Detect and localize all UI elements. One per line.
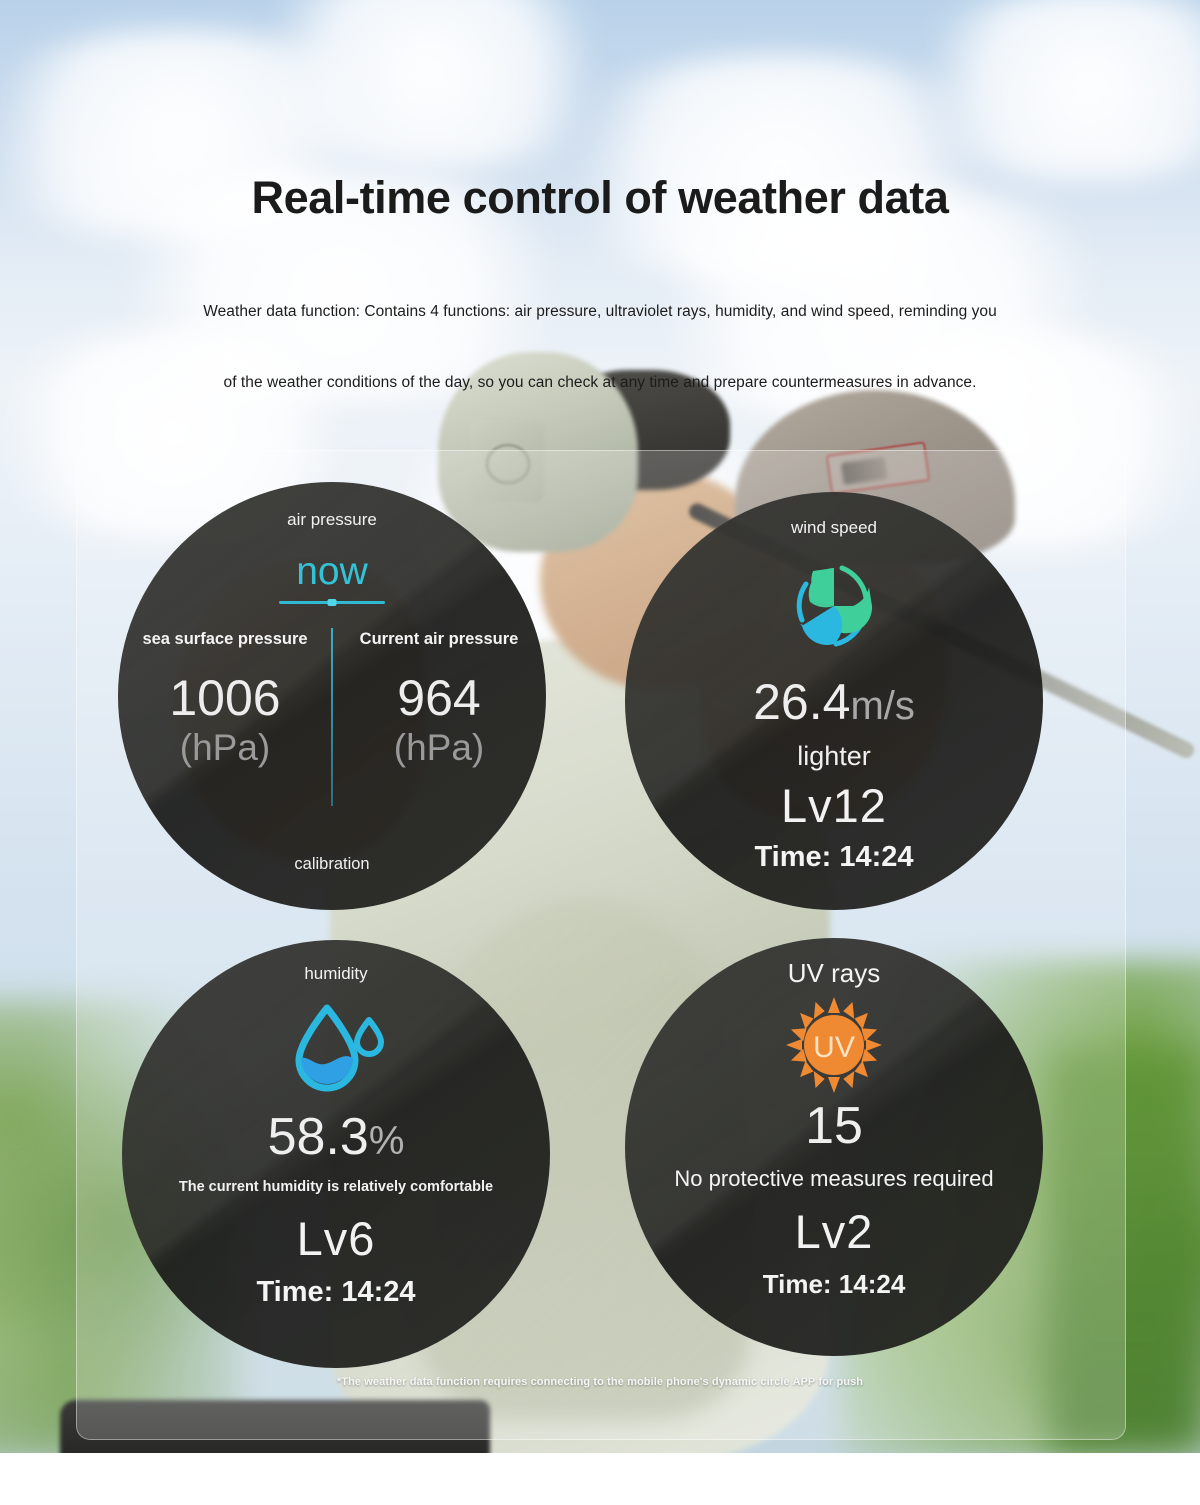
- sea-surface-pressure-label: sea surface pressure: [118, 630, 332, 649]
- wind-speed-unit: m/s: [850, 684, 914, 728]
- uv-level: Lv2: [795, 1208, 874, 1255]
- dial-title-wind-speed: wind speed: [791, 518, 877, 538]
- water-drop-icon: [283, 996, 389, 1105]
- humidity-value: 58.3: [268, 1108, 369, 1166]
- wind-speed-value-row: 26.4m/s: [753, 677, 915, 727]
- wind-speed-time: Time: 14:24: [754, 843, 913, 872]
- current-air-pressure-column: Current air pressure 964 (hPa): [332, 630, 546, 766]
- dial-air-pressure[interactable]: air pressure now sea surface pressure 10…: [118, 482, 546, 910]
- uv-description: No protective measures required: [674, 1166, 993, 1192]
- uv-time: Time: 14:24: [763, 1271, 906, 1297]
- calibration-button[interactable]: calibration: [118, 855, 546, 874]
- humidity-unit: %: [369, 1119, 405, 1163]
- uv-sun-icon: UV: [786, 997, 882, 1098]
- now-slider-track[interactable]: [279, 601, 385, 604]
- weather-feature-page: Real-time control of weather data Weathe…: [0, 0, 1200, 1505]
- dial-uv-rays[interactable]: UV rays: [625, 938, 1043, 1356]
- dial-title-humidity: humidity: [304, 964, 367, 984]
- page-subtitle-line-2: of the weather conditions of the day, so…: [0, 374, 1200, 392]
- now-slider-knob[interactable]: [328, 599, 337, 606]
- current-air-pressure-label: Current air pressure: [332, 630, 546, 649]
- wind-speed-description: lighter: [797, 743, 871, 770]
- wind-speed-value: 26.4: [753, 674, 850, 730]
- footnote: *The weather data function requires conn…: [0, 1376, 1200, 1388]
- sea-surface-pressure-value: 1006: [118, 673, 332, 723]
- bottom-white-strip: [0, 1453, 1200, 1505]
- wind-speed-level: Lv12: [781, 782, 887, 829]
- sea-surface-pressure-column: sea surface pressure 1006 (hPa): [118, 630, 332, 766]
- fan-icon: [780, 554, 888, 663]
- now-label: now: [296, 552, 368, 591]
- humidity-level: Lv6: [297, 1215, 376, 1262]
- current-air-pressure-value: 964: [332, 673, 546, 723]
- dial-wind-speed[interactable]: wind speed: [625, 492, 1043, 910]
- current-air-pressure-unit: (hPa): [332, 729, 546, 766]
- pressure-divider: [331, 628, 333, 806]
- dial-title-air-pressure: air pressure: [287, 510, 377, 530]
- humidity-description: The current humidity is relatively comfo…: [179, 1179, 493, 1195]
- humidity-value-row: 58.3%: [268, 1111, 405, 1163]
- dial-title-uv-rays: UV rays: [788, 958, 880, 989]
- sea-surface-pressure-unit: (hPa): [118, 729, 332, 766]
- dial-humidity[interactable]: humidity 58.3% The current humidity is r…: [122, 940, 550, 1368]
- page-subtitle-line-1: Weather data function: Contains 4 functi…: [0, 303, 1200, 321]
- uv-index-value: 15: [805, 1100, 863, 1152]
- humidity-time: Time: 14:24: [256, 1278, 415, 1307]
- page-title: Real-time control of weather data: [0, 172, 1200, 224]
- uv-icon-label: UV: [813, 1031, 855, 1064]
